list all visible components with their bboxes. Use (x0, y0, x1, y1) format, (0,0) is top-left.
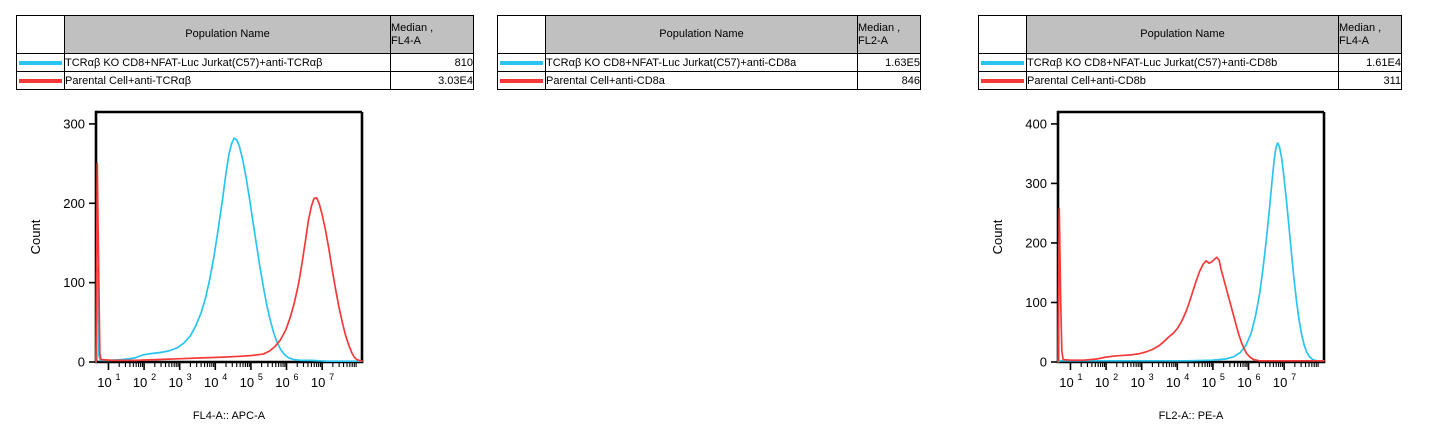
trace-group (96, 138, 362, 362)
median-header: Median , FL4-A (1339, 16, 1402, 54)
svg-text:3: 3 (187, 372, 192, 382)
legend-color-swatch-cyan (19, 61, 62, 65)
plot-axes (96, 112, 362, 362)
median-header-line2: FL4-A (1339, 35, 1401, 48)
y-axis-ticks: 0100200300 (63, 116, 96, 369)
histogram-trace (96, 138, 362, 362)
svg-text:10: 10 (275, 375, 289, 390)
svg-text:7: 7 (329, 372, 334, 382)
median-header-line2: FL2-A (858, 35, 920, 48)
table-row: TCRαβ KO CD8+NFAT-Luc Jurkat(C57)+anti-C… (498, 54, 921, 72)
population-name-cell: Parental Cell+anti-CD8a (546, 72, 858, 90)
population-name-cell: Parental Cell+anti-TCRαβ (65, 72, 391, 90)
median-header: Median , FL4-A (391, 16, 474, 54)
histogram-svg: 0100200300 101102103104105106107 Count F… (18, 104, 438, 434)
histogram-plot: 0100200300 101102103104105106107 Count F… (18, 104, 438, 434)
x-tick-label: 103 (168, 372, 191, 390)
x-tick-label: 102 (133, 372, 156, 390)
svg-text:5: 5 (258, 372, 263, 382)
legend-color-swatch-red (500, 79, 543, 83)
median-value-cell: 3.03E4 (391, 72, 474, 90)
legend-swatch-cell (498, 54, 546, 72)
legend-swatch-cell (979, 72, 1027, 90)
table-row: TCRαβ KO CD8+NFAT-Luc Jurkat(C57)+anti-T… (17, 54, 474, 72)
population-name-header: Population Name (65, 16, 391, 54)
y-tick-label: 300 (63, 116, 85, 131)
svg-text:10: 10 (204, 375, 218, 390)
population-name-header: Population Name (546, 16, 858, 54)
legend-color-swatch-red (19, 79, 62, 83)
axis-lines (96, 112, 362, 362)
legend-swatch-cell (17, 72, 65, 90)
median-header-line2: FL4-A (391, 35, 473, 48)
swatch-header (498, 16, 546, 54)
median-header-line1: Median , (1339, 22, 1381, 34)
table-row: Parental Cell+anti-TCRαβ 3.03E4 (17, 72, 474, 90)
y-axis-title: Count (28, 219, 43, 254)
legend-table: Population Name Median , FL4-A TCRαβ KO … (978, 15, 1402, 90)
legend-swatch-cell (17, 54, 65, 72)
svg-text:10: 10 (240, 375, 254, 390)
svg-text:4: 4 (222, 372, 227, 382)
y-tick-label: 100 (63, 275, 85, 290)
legend-table: Population Name Median , FL4-A TCRαβ KO … (16, 15, 474, 90)
legend-color-swatch-cyan (981, 61, 1024, 65)
population-name-cell: Parental Cell+anti-CD8b (1027, 72, 1339, 90)
histogram-trace (96, 164, 362, 362)
table-header-row: Population Name Median , FL2-A (498, 16, 921, 54)
panel-cd8b: Population Name Median , FL4-A TCRαβ KO … (962, 0, 1443, 448)
median-header-line1: Median , (858, 22, 900, 34)
x-axis-title: FL4-A:: APC-A (193, 410, 266, 422)
y-tick-label: 200 (63, 196, 85, 211)
panel-tcrab: Population Name Median , FL4-A TCRαβ KO … (0, 0, 480, 448)
legend-table: Population Name Median , FL2-A TCRαβ KO … (497, 15, 921, 90)
population-name-cell: TCRαβ KO CD8+NFAT-Luc Jurkat(C57)+anti-C… (1027, 54, 1339, 72)
x-tick-label: 107 (311, 372, 334, 390)
median-value-cell: 311 (1339, 72, 1402, 90)
swatch-header (979, 16, 1027, 54)
population-name-cell: TCRαβ KO CD8+NFAT-Luc Jurkat(C57)+anti-C… (546, 54, 858, 72)
svg-text:10: 10 (311, 375, 325, 390)
median-value-cell: 846 (858, 72, 921, 90)
svg-text:10: 10 (97, 375, 111, 390)
svg-text:6: 6 (294, 372, 299, 382)
median-value-cell: 810 (391, 54, 474, 72)
figure-root: Population Name Median , FL4-A TCRαβ KO … (0, 0, 1443, 448)
x-tick-label: 104 (204, 372, 227, 390)
svg-text:10: 10 (133, 375, 147, 390)
svg-text:1: 1 (115, 372, 120, 382)
legend-color-swatch-red (981, 79, 1024, 83)
table-header-row: Population Name Median , FL4-A (17, 16, 474, 54)
svg-text:2: 2 (151, 372, 156, 382)
legend-swatch-cell (498, 72, 546, 90)
median-header: Median , FL2-A (858, 16, 921, 54)
x-tick-label: 105 (240, 372, 263, 390)
panel-cd8a: Population Name Median , FL2-A TCRαβ KO … (481, 0, 961, 448)
median-value-cell: 1.61E4 (1339, 54, 1402, 72)
table-row: Parental Cell+anti-CD8b 311 (979, 72, 1402, 90)
svg-text:10: 10 (168, 375, 182, 390)
population-name-cell: TCRαβ KO CD8+NFAT-Luc Jurkat(C57)+anti-T… (65, 54, 391, 72)
population-name-header: Population Name (1027, 16, 1339, 54)
x-tick-label: 106 (275, 372, 298, 390)
table-row: TCRαβ KO CD8+NFAT-Luc Jurkat(C57)+anti-C… (979, 54, 1402, 72)
median-value-cell: 1.63E5 (858, 54, 921, 72)
table-row: Parental Cell+anti-CD8a 846 (498, 72, 921, 90)
y-tick-label: 0 (78, 355, 85, 370)
median-header-line1: Median , (391, 22, 433, 34)
legend-swatch-cell (979, 54, 1027, 72)
legend-color-swatch-cyan (500, 61, 543, 65)
x-tick-label: 101 (97, 372, 120, 390)
x-axis-ticks: 101102103104105106107 (97, 362, 356, 390)
swatch-header (17, 16, 65, 54)
table-header-row: Population Name Median , FL4-A (979, 16, 1402, 54)
